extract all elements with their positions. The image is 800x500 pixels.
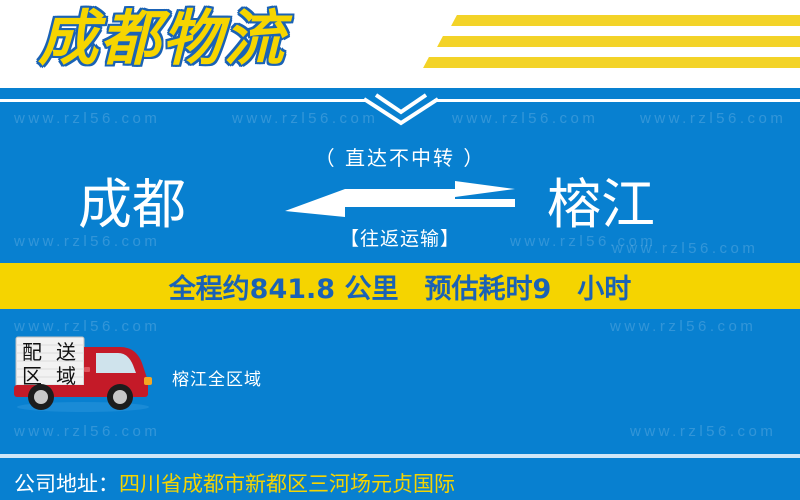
duration-label: 预估耗时9	[425, 267, 552, 306]
direct-shipping-note: （ 直达不中转 ）	[260, 142, 540, 171]
logistics-banner: 成都物流 www.rzl56.comwww.rzl56.comwww.rzl56…	[0, 0, 800, 500]
duration-unit: 小时	[577, 267, 631, 306]
banner-header: 成都物流	[0, 0, 800, 88]
watermark-text: www.rzl56.com	[640, 110, 786, 127]
address-value: 四川省成都市新都区三河场元贞国际	[119, 472, 455, 496]
watermark-text: www.rzl56.com	[452, 110, 598, 127]
delivery-truck-icon: 配 送 区 域	[8, 333, 158, 413]
distance-label: 全程约841.8 公里	[169, 267, 399, 306]
svg-text:域: 域	[56, 364, 76, 388]
decorative-stripes	[420, 12, 800, 74]
watermark-text: www.rzl56.com	[232, 110, 378, 127]
footer-separator	[0, 454, 800, 458]
chevron-down-icon	[360, 92, 442, 126]
stripe-2	[437, 36, 800, 47]
origin-city: 成都	[78, 178, 186, 232]
delivery-area-label: 榕江全区域	[172, 365, 262, 390]
destination-city: 榕江	[547, 178, 655, 232]
svg-text:送: 送	[56, 340, 76, 364]
stripe-3	[423, 57, 800, 68]
banner-body: www.rzl56.comwww.rzl56.comwww.rzl56.comw…	[0, 88, 800, 500]
roundtrip-note: 【往返运输】	[260, 224, 540, 251]
watermark-text: www.rzl56.com	[612, 240, 758, 257]
svg-text:配: 配	[22, 340, 42, 364]
header-rule-right	[434, 99, 800, 102]
stripe-1	[451, 15, 800, 26]
watermark-text: www.rzl56.com	[610, 318, 756, 335]
watermark-text: www.rzl56.com	[630, 423, 776, 440]
company-logo-title: 成都物流	[38, 2, 286, 76]
bidirectional-arrow-icon	[285, 181, 515, 221]
header-rule-left	[0, 99, 366, 102]
watermark-text: www.rzl56.com	[14, 110, 160, 127]
watermark-text: www.rzl56.com	[14, 423, 160, 440]
address-label: 公司地址：	[14, 472, 119, 496]
company-address: 公司地址：四川省成都市新都区三河场元贞国际	[14, 468, 455, 498]
info-band: 全程约841.8 公里 预估耗时9 小时	[0, 263, 800, 309]
